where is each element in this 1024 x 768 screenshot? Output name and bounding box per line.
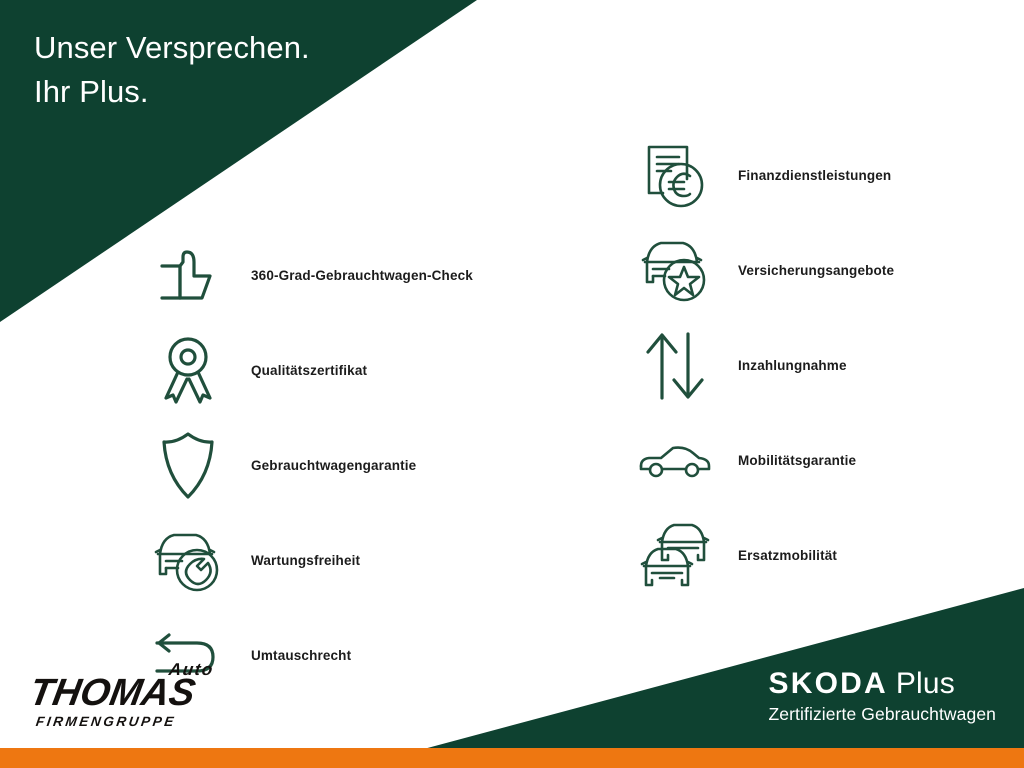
brand-name-row: SKODAPlus — [769, 668, 997, 700]
benefit-label: Gebrauchtwagengarantie — [231, 458, 416, 473]
dealer-logo: Auto THOMAS FIRMENGRUPPE — [30, 660, 220, 732]
benefits-left-column: 360-Grad-Gebrauchtwagen-Check Qualitätsz… — [145, 228, 473, 703]
benefit-item-maintenance: Wartungsfreiheit — [145, 513, 473, 608]
benefits-right-column: Finanzdienstleistungen Versicherungsange… — [632, 128, 894, 603]
benefit-item-replacement-mobility: Ersatzmobilität — [632, 508, 894, 603]
thumbs-up-icon — [145, 236, 231, 316]
benefit-label: Ersatzmobilität — [718, 548, 837, 563]
orange-footer-stripe — [0, 748, 1024, 768]
car-side-icon — [632, 421, 718, 501]
skoda-wordmark: SKODA — [769, 667, 888, 700]
dealer-logo-thomas: THOMAS — [27, 674, 198, 712]
benefit-item-trade-in: Inzahlungnahme — [632, 318, 894, 413]
benefit-item-360-check: 360-Grad-Gebrauchtwagen-Check — [145, 228, 473, 323]
benefit-item-quality-certificate: Qualitätszertifikat — [145, 323, 473, 418]
benefit-item-financial-services: Finanzdienstleistungen — [632, 128, 894, 223]
brand-tagline: Zertifizierte Gebrauchtwagen — [769, 702, 997, 727]
brand-lockup: SKODAPlus Zertifizierte Gebrauchtwagen — [769, 668, 997, 726]
benefit-label: Qualitätszertifikat — [231, 363, 367, 378]
car-wrench-icon — [145, 521, 231, 601]
benefit-label: 360-Grad-Gebrauchtwagen-Check — [231, 268, 473, 283]
benefit-label: Finanzdienstleistungen — [718, 168, 891, 183]
benefit-item-insurance: Versicherungsangebote — [632, 223, 894, 318]
dealer-logo-firmengruppe: FIRMENGRUPPE — [35, 714, 177, 729]
benefit-label: Umtauschrecht — [231, 648, 351, 663]
car-star-icon — [632, 231, 718, 311]
headline-line-2: Ihr Plus. — [34, 70, 310, 114]
benefit-item-mobility-guarantee: Mobilitätsgarantie — [632, 413, 894, 508]
two-cars-icon — [632, 516, 718, 596]
headline-line-1: Unser Versprechen. — [34, 26, 310, 70]
up-down-arrows-icon — [632, 326, 718, 406]
benefit-label: Wartungsfreiheit — [231, 553, 360, 568]
shield-icon — [145, 426, 231, 506]
document-euro-icon — [632, 136, 718, 216]
page-title: Unser Versprechen. Ihr Plus. — [34, 26, 310, 114]
brand-plus-label: Plus — [896, 667, 955, 700]
benefit-item-warranty: Gebrauchtwagengarantie — [145, 418, 473, 513]
benefit-label: Inzahlungnahme — [718, 358, 847, 373]
benefit-label: Mobilitätsgarantie — [718, 453, 856, 468]
award-ribbon-icon — [145, 331, 231, 411]
promo-graphic: Unser Versprechen. Ihr Plus. 360-Grad-Ge… — [0, 0, 1024, 768]
benefit-label: Versicherungsangebote — [718, 263, 894, 278]
